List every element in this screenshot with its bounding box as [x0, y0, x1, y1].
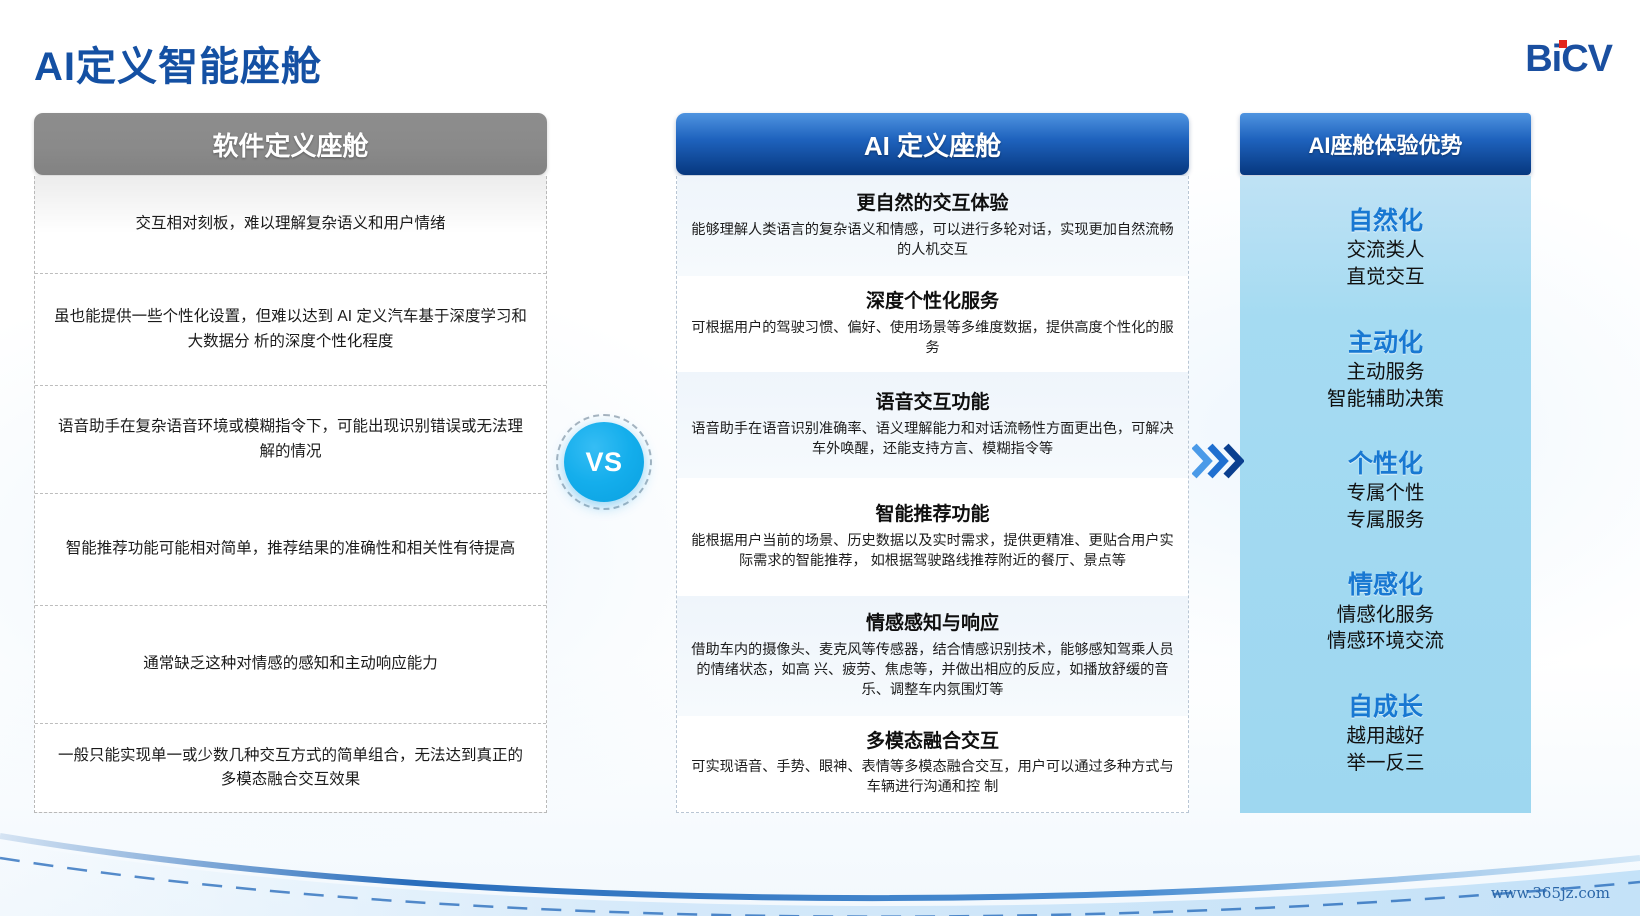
advantage-group: 自成长越用越好举一反三	[1240, 692, 1531, 777]
footer-watermark: www.365jz.com	[1491, 884, 1610, 902]
center-item-title: 情感感知与响应	[866, 612, 999, 637]
center-item-desc: 语音助手在语音识别准确率、语义理解能力和对话流畅性方面更出色，可解决车外唤醒，还…	[691, 419, 1174, 459]
left-item-text: 虽也能提供一些个性化设置，但难以达到 AI 定义汽车基于深度学习和大数据分 析的…	[53, 305, 528, 353]
center-item-desc: 可实现语音、手势、眼神、表情等多模态融合交互，用户可以通过多种方式与车辆进行沟通…	[691, 757, 1174, 797]
advantage-group: 自然化交流类人直觉交互	[1240, 206, 1531, 291]
left-item: 智能推荐功能可能相对简单，推荐结果的准确性和相关性有待提高	[35, 494, 546, 606]
left-item: 虽也能提供一些个性化设置，但难以达到 AI 定义汽车基于深度学习和大数据分 析的…	[35, 274, 546, 386]
left-column-body: 交互相对刻板，难以理解复杂语义和用户情绪虽也能提供一些个性化设置，但难以达到 A…	[34, 176, 547, 813]
vs-badge-circle: VS	[564, 422, 644, 502]
center-item: 语音交互功能语音助手在语音识别准确率、语义理解能力和对话流畅性方面更出色，可解决…	[677, 372, 1188, 478]
center-item-desc: 能够理解人类语言的复杂语义和情感，可以进行多轮对话，实现更加自然流畅的人机交互	[691, 220, 1174, 260]
advantage-line: 智能辅助决策	[1240, 386, 1531, 413]
center-column-header: AI 定义座舱	[676, 113, 1189, 175]
advantage-heading: 情感化	[1240, 570, 1531, 601]
vs-badge: VS	[556, 414, 652, 510]
left-item-text: 通常缺乏这种对情感的感知和主动响应能力	[143, 652, 438, 676]
center-item-desc: 能根据用户当前的场景、历史数据以及实时需求，提供更精准、更贴合用户实际需求的智能…	[691, 531, 1174, 571]
left-item-text: 智能推荐功能可能相对简单，推荐结果的准确性和相关性有待提高	[66, 537, 516, 561]
advantage-line: 专属个性	[1240, 480, 1531, 507]
bottom-swoosh-decoration	[0, 796, 1640, 916]
brand-logo: BiCV	[1525, 38, 1612, 81]
left-item: 一般只能实现单一或少数几种交互方式的简单组合，无法达到真正的多模态融合交互效果	[35, 724, 546, 812]
page-title: AI定义智能座舱	[34, 34, 322, 92]
right-column-body: 自然化交流类人直觉交互主动化主动服务智能辅助决策个性化专属个性专属服务情感化情感…	[1240, 176, 1531, 813]
left-item: 语音助手在复杂语音环境或模糊指令下，可能出现识别错误或无法理解的情况	[35, 386, 546, 494]
advantage-group: 情感化情感化服务情感环境交流	[1240, 570, 1531, 655]
center-item-desc: 借助车内的摄像头、麦克风等传感器，结合情感识别技术，能够感知驾乘人员的情绪状态，…	[691, 640, 1174, 700]
advantage-line: 直觉交互	[1240, 264, 1531, 291]
left-item-text: 交互相对刻板，难以理解复杂语义和用户情绪	[135, 212, 445, 236]
advantage-line: 专属服务	[1240, 507, 1531, 534]
left-column-header: 软件定义座舱	[34, 113, 547, 175]
center-item-desc: 可根据用户的驾驶习惯、偏好、使用场景等多维度数据，提供高度个性化的服务	[691, 318, 1174, 358]
slide-canvas: AI定义智能座舱 BiCV 软件定义座舱 交互相对刻板，难以理解复杂语义和用户情…	[0, 0, 1640, 916]
center-column-header-label: AI 定义座舱	[864, 126, 1001, 163]
left-column-header-label: 软件定义座舱	[212, 126, 368, 163]
center-column-body: 更自然的交互体验能够理解人类语言的复杂语义和情感，可以进行多轮对话，实现更加自然…	[676, 176, 1189, 813]
center-item-title: 更自然的交互体验	[856, 192, 1008, 217]
triple-chevron-right-icon	[1192, 440, 1244, 482]
advantage-line: 情感化服务	[1240, 602, 1531, 629]
center-item: 深度个性化服务可根据用户的驾驶习惯、偏好、使用场景等多维度数据，提供高度个性化的…	[677, 276, 1188, 372]
advantage-heading: 个性化	[1240, 449, 1531, 480]
advantage-heading: 自成长	[1240, 692, 1531, 723]
center-item: 智能推荐功能能根据用户当前的场景、历史数据以及实时需求，提供更精准、更贴合用户实…	[677, 478, 1188, 596]
vs-badge-label: VS	[585, 447, 622, 478]
center-item: 更自然的交互体验能够理解人类语言的复杂语义和情感，可以进行多轮对话，实现更加自然…	[677, 176, 1188, 276]
advantage-heading: 自然化	[1240, 206, 1531, 237]
left-item-text: 语音助手在复杂语音环境或模糊指令下，可能出现识别错误或无法理解的情况	[53, 415, 528, 463]
center-item-title: 深度个性化服务	[866, 290, 999, 315]
center-item: 情感感知与响应借助车内的摄像头、麦克风等传感器，结合情感识别技术，能够感知驾乘人…	[677, 596, 1188, 716]
center-item-title: 智能推荐功能	[875, 503, 989, 528]
advantage-line: 主动服务	[1240, 359, 1531, 386]
right-column-header-label: AI座舱体验优势	[1308, 128, 1462, 160]
brand-logo-text: BiCV	[1525, 38, 1612, 80]
advantage-heading: 主动化	[1240, 328, 1531, 359]
left-item: 通常缺乏这种对情感的感知和主动响应能力	[35, 606, 546, 724]
center-item-title: 语音交互功能	[875, 391, 989, 416]
advantage-line: 交流类人	[1240, 237, 1531, 264]
right-column-header: AI座舱体验优势	[1240, 113, 1531, 175]
center-item: 多模态融合交互可实现语音、手势、眼神、表情等多模态融合交互，用户可以通过多种方式…	[677, 716, 1188, 811]
brand-logo-dot	[1559, 40, 1567, 48]
advantage-line: 举一反三	[1240, 750, 1531, 777]
left-item-text: 一般只能实现单一或少数几种交互方式的简单组合，无法达到真正的多模态融合交互效果	[53, 744, 528, 792]
advantage-group: 个性化专属个性专属服务	[1240, 449, 1531, 534]
advantage-line: 越用越好	[1240, 723, 1531, 750]
center-item-title: 多模态融合交互	[866, 730, 999, 755]
advantage-line: 情感环境交流	[1240, 628, 1531, 655]
left-item: 交互相对刻板，难以理解复杂语义和用户情绪	[35, 176, 546, 274]
advantage-group: 主动化主动服务智能辅助决策	[1240, 328, 1531, 413]
